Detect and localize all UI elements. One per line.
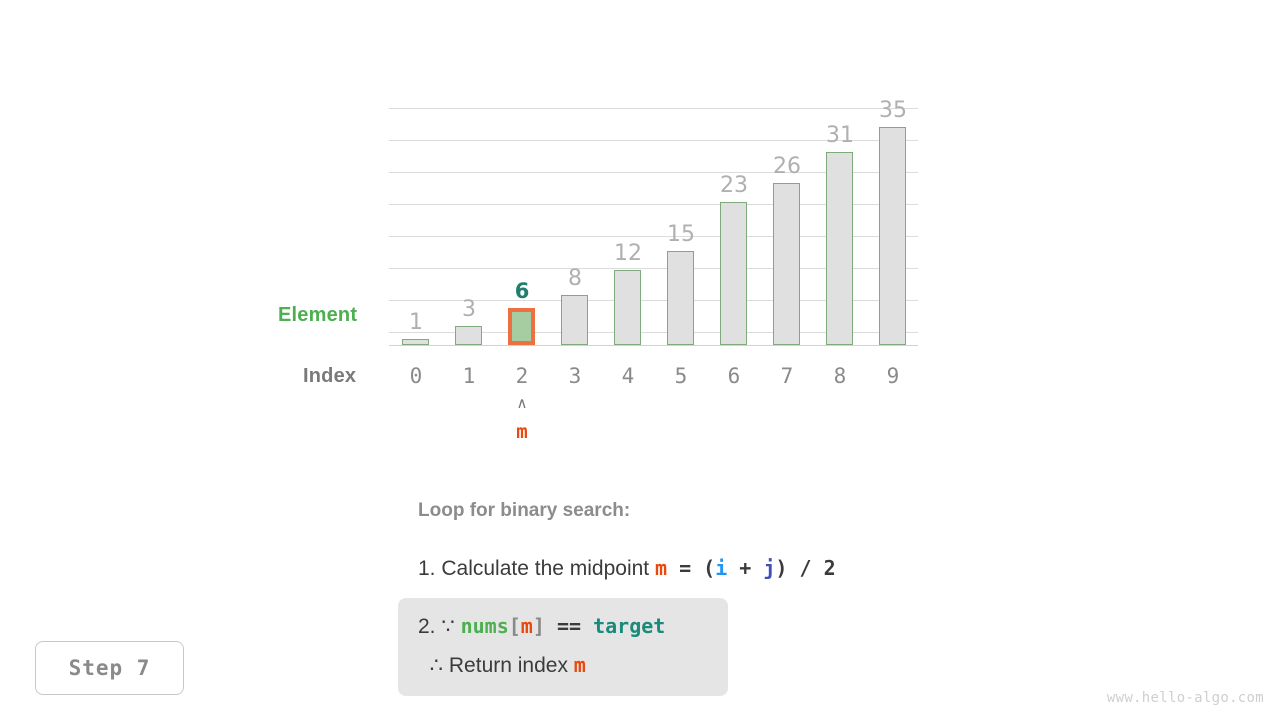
bar-value-label: 15 — [654, 224, 708, 246]
step-3-text: Return index — [449, 654, 574, 677]
var-m-inline: m — [655, 556, 667, 580]
step-3-indent — [418, 654, 430, 677]
divide-sign: / — [787, 556, 823, 580]
bar-value-label: 35 — [866, 100, 920, 122]
bar-value-label: 26 — [760, 156, 814, 178]
description-block: Loop for binary search: 1. Calculate the… — [418, 498, 1018, 584]
var-j-inline: j — [763, 556, 775, 580]
pointer-label-m: m — [495, 423, 549, 442]
description-step-2: 2. ∵ nums[m] == target — [418, 611, 708, 643]
bar — [667, 251, 694, 345]
index-label-6: 6 — [707, 366, 761, 387]
bar — [773, 183, 800, 345]
bracket-close: ] — [533, 614, 545, 638]
therefore-symbol: ∴ — [430, 654, 443, 677]
equals-sign: = — [667, 556, 703, 580]
description-title: Loop for binary search: — [418, 498, 1018, 525]
watermark: www.hello-algo.com — [1107, 690, 1264, 706]
paren-close: ) — [775, 556, 787, 580]
var-m-return: m — [574, 653, 586, 677]
description-highlight-box: 2. ∵ nums[m] == target ∴ Return index m — [398, 598, 728, 696]
because-symbol: ∵ — [441, 615, 454, 638]
literal-two: 2 — [824, 556, 836, 580]
bar-value-label: 6 — [495, 281, 549, 302]
bar-value-label: 31 — [813, 125, 867, 147]
index-label-9: 9 — [866, 366, 920, 387]
index-axis-caption: Index — [303, 365, 356, 388]
bar — [879, 127, 906, 345]
step-button[interactable]: Step 7 — [35, 641, 184, 695]
bar — [455, 326, 482, 345]
bar-value-label: 23 — [707, 175, 761, 197]
target-identifier: target — [593, 614, 665, 638]
bar — [720, 202, 747, 345]
bar — [561, 295, 588, 345]
description-step-3: ∴ Return index m — [418, 650, 708, 682]
index-label-0: 0 — [389, 366, 443, 387]
element-axis-caption: Element — [278, 304, 357, 327]
step-2-number: 2. — [418, 615, 436, 638]
bar-value-label: 12 — [601, 243, 655, 265]
bar — [402, 339, 429, 345]
nums-identifier: nums — [461, 614, 509, 638]
bracket-open: [ — [509, 614, 521, 638]
index-label-2: 2 — [495, 366, 549, 387]
var-m-index: m — [521, 614, 533, 638]
bar-value-label: 8 — [548, 268, 602, 290]
bar-highlighted — [508, 308, 535, 345]
plus-sign: + — [727, 556, 763, 580]
step-2-spacer-4 — [581, 614, 593, 638]
index-label-5: 5 — [654, 366, 708, 387]
var-i-inline: i — [715, 556, 727, 580]
step-1-number: 1. — [418, 557, 436, 580]
pointer-marker-m: ∧m — [495, 396, 549, 442]
equality-operator: == — [557, 614, 581, 638]
bar-value-label: 3 — [442, 299, 496, 321]
description-step-1: 1. Calculate the midpoint m = (i + j) / … — [418, 553, 1018, 585]
bar-value-label: 1 — [389, 312, 443, 334]
index-label-3: 3 — [548, 366, 602, 387]
paren-open: ( — [703, 556, 715, 580]
pointer-caret-icon: ∧ — [495, 396, 549, 411]
index-axis-row: 0123456789 — [389, 366, 918, 394]
index-label-4: 4 — [601, 366, 655, 387]
bar — [614, 270, 641, 345]
index-label-7: 7 — [760, 366, 814, 387]
bar — [826, 152, 853, 345]
index-label-8: 8 — [813, 366, 867, 387]
index-label-1: 1 — [442, 366, 496, 387]
step-2-spacer-3 — [545, 614, 557, 638]
gridline — [389, 108, 918, 109]
axis-baseline — [389, 345, 918, 346]
step-1-text: Calculate the midpoint — [436, 557, 655, 580]
